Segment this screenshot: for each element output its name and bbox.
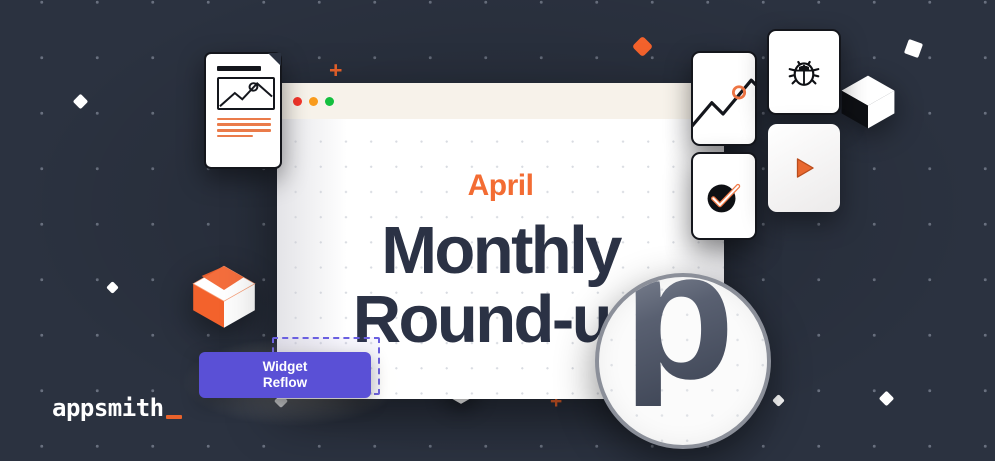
document-text-lines [217,118,271,138]
document-title-bar [217,66,261,71]
widget-reflow-label-line2: Reflow [263,375,307,391]
orange-cube-icon [189,262,259,332]
line-chart-icon [693,53,755,144]
decor-diamond [879,391,895,407]
logo-caret-icon [166,415,182,419]
decor-diamond-orange [632,36,653,57]
decor-diamond [106,281,119,294]
widget-reflow-card[interactable]: Widget Reflow [199,352,371,398]
decor-diamond [73,94,89,110]
poster-root: + + [0,0,995,461]
browser-titlebar [277,83,724,119]
bug-card [767,29,841,115]
hero-title-line1: Monthly [381,213,620,288]
hero-kicker: April [468,171,534,201]
appsmith-logo: appsmith [52,396,182,420]
logo-wordmark: appsmith [52,396,164,420]
black-white-cube-icon [838,72,898,132]
magnified-glyph: p [623,273,729,406]
chart-card [691,51,757,146]
document-card [204,52,282,169]
widget-reflow-label-line1: Widget [263,359,308,375]
play-icon [791,155,817,181]
play-card[interactable] [768,124,840,212]
window-maximize-button[interactable] [325,97,334,106]
image-placeholder-icon [217,77,275,110]
window-minimize-button[interactable] [309,97,318,106]
decor-diamond [772,394,785,407]
window-close-button[interactable] [293,97,302,106]
check-card [691,152,757,240]
decor-square [904,39,923,58]
bug-icon [784,52,824,92]
magnifier-lens: p [595,273,771,449]
check-circle-icon [701,173,747,219]
page-fold-corner [268,53,281,66]
decor-plus-icon: + [329,59,342,82]
